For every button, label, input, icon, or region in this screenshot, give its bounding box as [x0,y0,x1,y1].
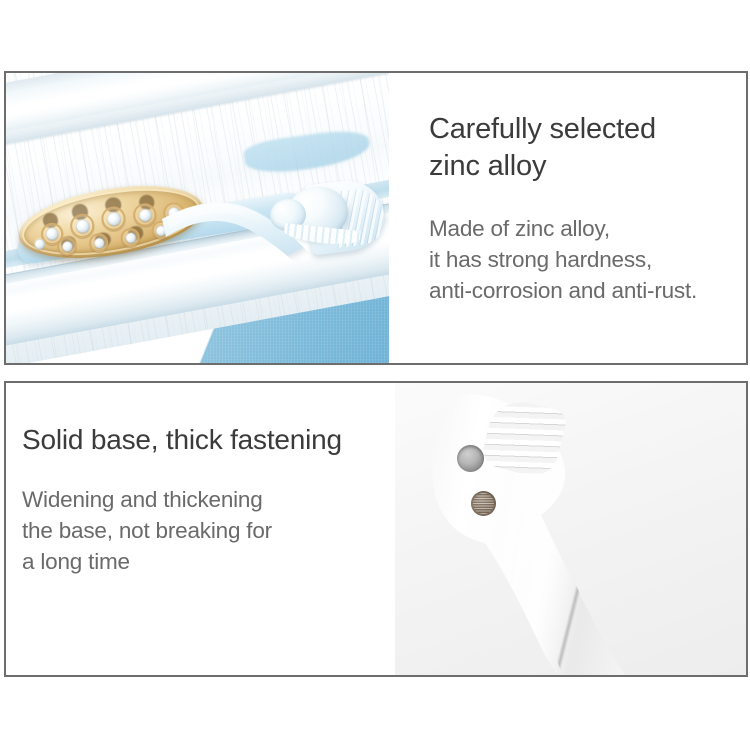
door-handle [14,169,384,289]
panel-heading-zinc-alloy: Carefully selected zinc alloy [429,111,728,185]
feature-panel-solid-base: Solid base, thick fastening Widening and… [4,381,748,677]
panel-body-zinc-alloy: Made of zinc alloy, it has strong hardne… [429,213,728,306]
product-feature-page: Carefully selected zinc alloy Made of zi… [0,0,750,750]
screw-hole-upper [457,445,484,472]
feature-panel-zinc-alloy: Carefully selected zinc alloy Made of zi… [4,71,748,365]
base-scene [395,383,746,675]
panel-heading-solid-base: Solid base, thick fastening [22,423,379,457]
text-block-zinc-alloy: Carefully selected zinc alloy Made of zi… [389,73,746,363]
photo-ornate-door-handle [6,73,389,363]
text-block-solid-base: Solid base, thick fastening Widening and… [6,383,395,675]
handle-ornate-base [264,177,384,261]
handle-shaft-edge-line [519,509,639,675]
panel-body-solid-base: Widening and thickening the base, not br… [22,484,379,577]
photo-handle-base [395,383,746,675]
door-scene [6,73,389,363]
screw-hole-lower-thread [473,493,494,514]
handle-shaft-assembly [399,391,729,675]
